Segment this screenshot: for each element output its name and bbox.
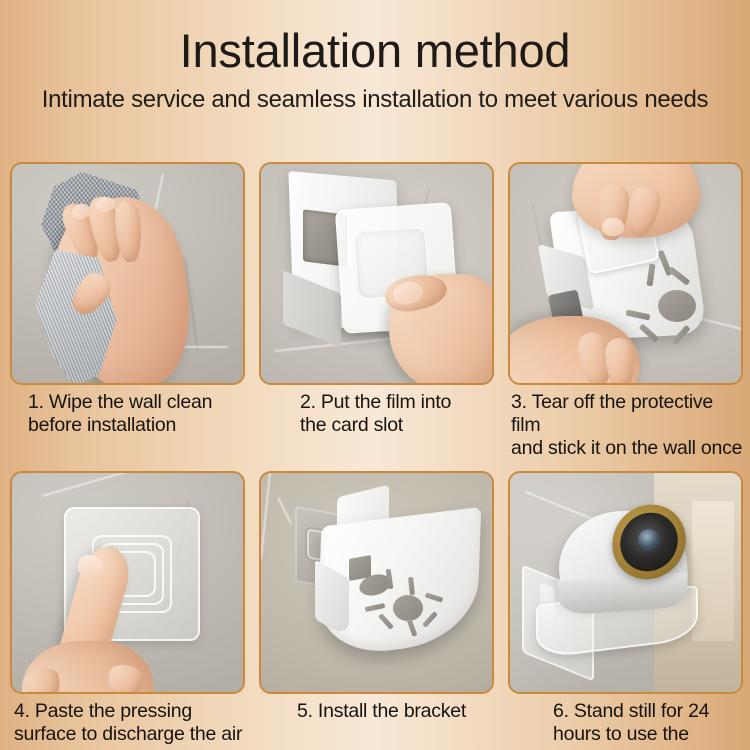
scene-insert-film-into-card-slot — [261, 164, 492, 383]
steps-row-bottom: 4. Paste the pressing surface to dischar… — [10, 471, 743, 750]
finger — [604, 337, 635, 385]
step-caption-1: 1. Wipe the wall clean before installati… — [10, 391, 245, 437]
fingernail — [602, 218, 624, 236]
step-card-1: 1. Wipe the wall clean before installati… — [10, 162, 245, 459]
step-caption-2: 2. Put the film into the card slot — [259, 391, 494, 437]
page-header: Installation method Intimate service and… — [0, 0, 750, 114]
step-card-2: 2. Put the film into the card slot — [259, 162, 494, 459]
scene-press-adhesive-pad — [12, 473, 243, 692]
center-hole — [658, 290, 696, 322]
page-title: Installation method — [0, 26, 750, 75]
step-image-4 — [10, 471, 245, 694]
step-image-5 — [259, 471, 494, 694]
step-image-6 — [508, 471, 743, 694]
glass-glare — [510, 473, 660, 692]
step-caption-6: 6. Stand still for 24 hours to use the c… — [508, 700, 743, 750]
step-card-6: 6. Stand still for 24 hours to use the c… — [508, 471, 743, 750]
steps-grid: 1. Wipe the wall clean before installati… — [10, 162, 743, 750]
scene-install-bracket-on-wall — [261, 473, 492, 692]
step-card-3: 3. Tear off the protective film and stic… — [508, 162, 743, 459]
step-caption-4: 4. Paste the pressing surface to dischar… — [10, 700, 245, 746]
step-image-1 — [10, 162, 245, 385]
step-caption-3: 3. Tear off the protective film and stic… — [508, 391, 743, 459]
page-subtitle: Intimate service and seamless installati… — [0, 86, 750, 114]
step-image-3 — [508, 162, 743, 385]
steps-row-top: 1. Wipe the wall clean before installati… — [10, 162, 743, 459]
step-card-5: 5. Install the bracket — [259, 471, 494, 750]
scene-tear-protective-film — [510, 164, 741, 383]
room-doorway — [692, 501, 734, 641]
step-caption-5: 5. Install the bracket — [259, 700, 494, 723]
scene-camera-mounted-on-bracket — [510, 473, 741, 692]
scene-wipe-wall-with-cloth — [12, 164, 243, 383]
step-image-2 — [259, 162, 494, 385]
step-card-4: 4. Paste the pressing surface to dischar… — [10, 471, 245, 750]
